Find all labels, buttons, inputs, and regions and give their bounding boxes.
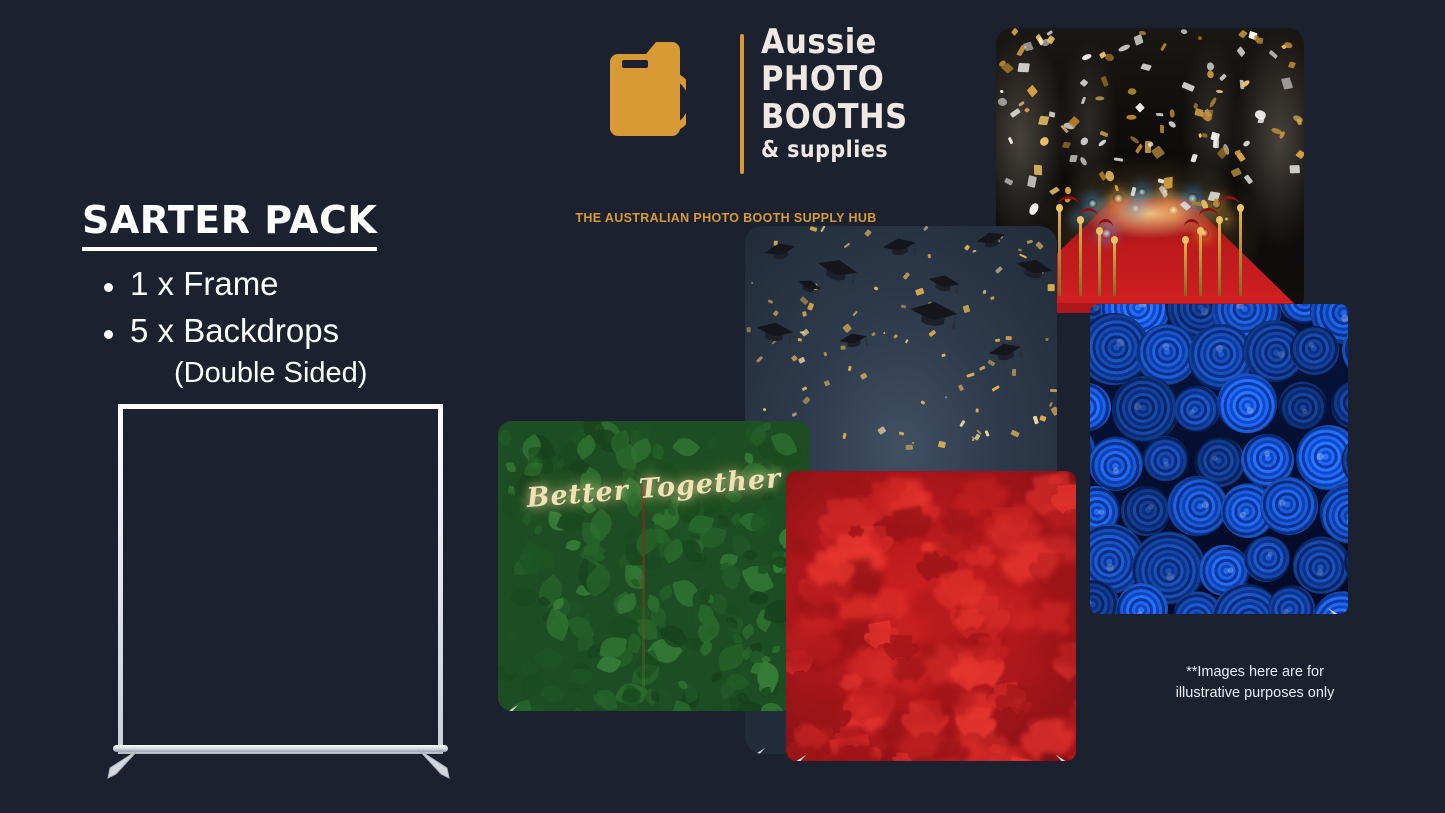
backdrop-red-hearts-art [786,471,1076,761]
logo-line-aussie: Aussie [761,26,919,59]
backdrop-green-ivy-foot-left [498,703,520,711]
logo-mark-row: Aussie PHOTO BOOTHS & supplies [606,28,686,143]
logo-wordmark: Aussie PHOTO BOOTHS & supplies [761,26,936,161]
brand-tagline: THE AUSTRALIAN PHOTO BOOTH SUPPLY HUB [566,211,886,225]
offer-copy: SARTER PACK 1 x Frame 5 x Backdrops (Dou… [82,198,482,390]
backdrop-green-ivy: Better Together [498,421,810,711]
disclaimer-note: **Images here are for illustrative purpo… [1155,662,1355,704]
backdrop-graduation-foot-left [745,746,767,754]
offer-subnote: (Double Sided) [82,357,482,390]
backdrop-blue-roses-foot-right [1326,606,1348,614]
offer-item-list: 1 x Frame 5 x Backdrops [82,261,482,355]
product-frame [106,404,451,779]
promo-canvas: Aussie PHOTO BOOTHS & supplies THE AUSTR… [0,0,1445,813]
roses-cluster [1090,304,1348,614]
frame-foot-left [106,748,140,782]
backdrop-red-hearts-foot-left [786,753,808,761]
logo-line-photo: PHOTO [761,63,919,96]
offer-item-backdrops: 5 x Backdrops [82,308,482,355]
backdrop-red-hearts [786,471,1076,761]
frame-base-bar [113,745,448,752]
frame-foot-right [417,748,451,782]
logo-line-booths: BOOTHS [761,101,919,134]
camera-icon [606,28,686,143]
ivy-vine [642,485,645,688]
backdrop-red-hearts-foot-right [1054,753,1076,761]
backdrop-blue-roses [1090,304,1348,614]
logo-divider [740,34,744,174]
frame-tube-outline [118,404,443,749]
hearts-bokeh [786,471,1076,761]
backdrop-blue-roses-art [1090,304,1348,614]
disclaimer-line-2: illustrative purposes only [1155,683,1355,704]
offer-item-frame: 1 x Frame [82,261,482,308]
backdrop-green-ivy-art: Better Together [498,421,810,711]
offer-heading: SARTER PACK [82,198,377,251]
disclaimer-line-1: **Images here are for [1155,662,1355,683]
brand-logo: Aussie PHOTO BOOTHS & supplies THE AUSTR… [566,28,886,208]
logo-line-supplies: & supplies [761,139,919,162]
